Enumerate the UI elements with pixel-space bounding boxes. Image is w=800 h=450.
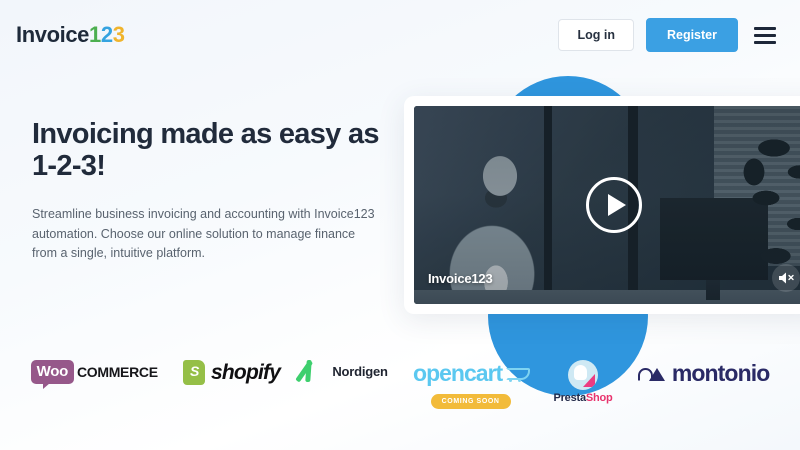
nordigen-n-icon [305, 360, 325, 382]
register-button[interactable]: Register [646, 18, 738, 53]
play-icon[interactable] [586, 177, 642, 233]
shopify-logo: shopify [183, 360, 280, 385]
hamburger-bar [754, 34, 776, 37]
prestashop-text-shop: Shop [586, 392, 613, 404]
montonio-logo: montonio [638, 360, 770, 387]
woocommerce-badge: Woo [31, 360, 74, 384]
opencart-text: opencart [413, 360, 502, 387]
hamburger-menu-icon[interactable] [754, 27, 776, 44]
partner-logos: Woo COMMERCE shopify Nordigen opencart C… [0, 348, 800, 428]
opencart-logo: opencart [413, 360, 528, 387]
prestashop-text-presta: Presta [553, 392, 585, 404]
montonio-mountain-icon [638, 367, 664, 381]
coming-soon-badge: COMING SOON [431, 394, 511, 409]
hero-subtitle: Streamline business invoicing and accoun… [32, 205, 377, 264]
brand-logo-digit-3: 3 [113, 22, 125, 48]
hero-video-area: Invoice123 [404, 90, 800, 320]
nordigen-text: Nordigen [332, 364, 387, 379]
woocommerce-logo: Woo COMMERCE [31, 360, 158, 384]
hamburger-bar [754, 27, 776, 30]
play-triangle [608, 194, 626, 216]
woocommerce-text: COMMERCE [77, 364, 158, 380]
shopify-text: shopify [211, 361, 280, 385]
mute-icon[interactable] [772, 264, 800, 292]
prestashop-text: PrestaShop [553, 392, 612, 404]
partner-shopify[interactable]: shopify [183, 348, 280, 385]
partner-montonio[interactable]: montonio [638, 348, 770, 387]
brand-logo-digit-2: 2 [101, 22, 113, 48]
shopify-bag-icon [183, 360, 205, 385]
site-header: Invoice123 Log in Register [0, 0, 800, 70]
partner-prestashop[interactable]: PrestaShop [553, 348, 612, 404]
hero-copy: Invoicing made as easy as 1-2-3! Streaml… [32, 118, 392, 264]
video-player[interactable]: Invoice123 [414, 106, 800, 304]
log-in-button[interactable]: Log in [558, 19, 634, 52]
video-card: Invoice123 [404, 96, 800, 314]
brand-logo-word: Invoice [16, 22, 89, 48]
hero-title: Invoicing made as easy as 1-2-3! [32, 118, 392, 183]
brand-logo-digit-1: 1 [89, 22, 101, 48]
partner-opencart[interactable]: opencart COMING SOON [413, 348, 528, 409]
shopping-cart-icon [506, 366, 528, 382]
montonio-arc [638, 368, 653, 381]
montonio-text: montonio [672, 360, 770, 387]
header-actions: Log in Register [558, 18, 776, 53]
hero-section: Invoicing made as easy as 1-2-3! Streaml… [0, 70, 800, 340]
hamburger-bar [754, 41, 776, 44]
mute-glyph [778, 271, 795, 285]
video-watermark: Invoice123 [428, 271, 493, 286]
partner-woocommerce[interactable]: Woo COMMERCE [31, 348, 158, 384]
prestashop-icon [568, 360, 598, 390]
partner-nordigen[interactable]: Nordigen [305, 348, 387, 382]
nordigen-logo: Nordigen [305, 360, 387, 382]
brand-logo[interactable]: Invoice123 [16, 22, 125, 48]
